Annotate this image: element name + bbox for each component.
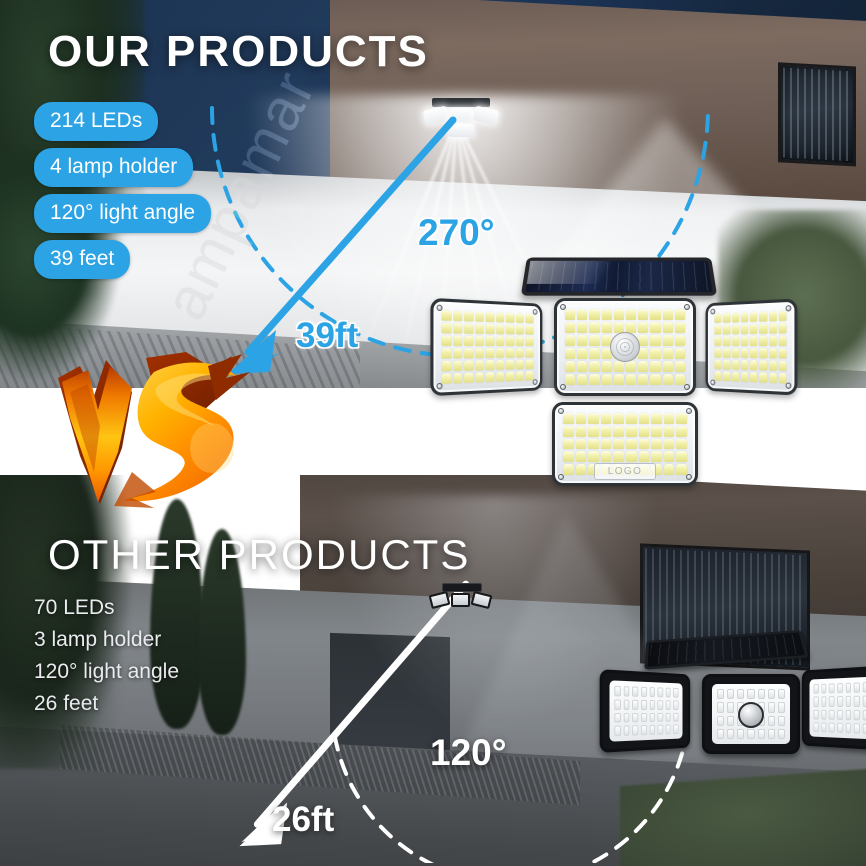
led-dot — [779, 310, 787, 321]
led-dot — [577, 374, 587, 385]
led-dot — [496, 324, 504, 334]
led-dot — [845, 683, 851, 693]
led-dot — [676, 464, 687, 475]
led-dot — [837, 696, 843, 706]
led-dot — [732, 372, 739, 382]
led-dot — [845, 710, 851, 720]
led-dot — [821, 709, 826, 719]
led-dot — [663, 322, 673, 333]
led-dot — [639, 451, 650, 462]
led-dot — [641, 700, 647, 710]
led-dot — [516, 359, 524, 369]
led-dot — [769, 348, 777, 358]
led-dot — [442, 361, 451, 372]
led-dot — [673, 688, 678, 697]
motion-sensor-icon — [610, 332, 640, 362]
led-dot — [769, 323, 777, 333]
led-dot — [486, 312, 495, 322]
led-dot — [663, 348, 673, 359]
led-dot — [663, 361, 673, 372]
led-dot — [741, 372, 748, 382]
led-dot — [750, 348, 757, 358]
page-title-other-products: OTHER PRODUCTS — [48, 531, 470, 579]
led-grid — [810, 676, 866, 740]
led-dot — [768, 716, 775, 726]
led-dot — [632, 725, 638, 735]
led-dot — [601, 439, 612, 450]
wall-mounted-lamp-icon-bottom — [430, 583, 492, 617]
led-dot — [717, 689, 724, 699]
led-dot — [601, 413, 612, 424]
led-dot — [727, 689, 734, 699]
led-dot — [779, 373, 787, 384]
led-dot — [813, 684, 818, 694]
led-dot — [727, 702, 734, 712]
led-dot — [723, 325, 730, 335]
led-dot — [650, 374, 660, 385]
led-dot — [651, 413, 662, 424]
led-dot — [641, 713, 647, 723]
led-dot — [673, 712, 678, 721]
feature-text: 26 feet — [34, 693, 179, 714]
led-dot — [837, 709, 843, 719]
led-dot — [442, 335, 451, 346]
coverage-angle-label-top: 270° — [418, 212, 495, 254]
led-dot — [626, 374, 636, 385]
feature-text: 70 LEDs — [34, 597, 179, 618]
led-dot — [651, 426, 662, 437]
led-dot — [577, 322, 587, 333]
led-dot — [589, 322, 599, 333]
led-dot — [453, 360, 462, 371]
led-dot — [442, 310, 451, 321]
led-dot — [623, 686, 629, 696]
led-dot — [588, 451, 599, 462]
led-dot — [829, 683, 835, 693]
led-dot — [714, 313, 721, 323]
led-dot — [613, 439, 624, 450]
led-dot — [727, 729, 734, 739]
led-dot — [651, 451, 662, 462]
led-dot — [778, 729, 785, 739]
led-dot — [759, 336, 767, 346]
led-dot — [759, 372, 767, 382]
led-dot — [526, 336, 534, 346]
led-dot — [589, 348, 599, 359]
led-dot — [732, 348, 739, 358]
led-dot — [650, 322, 660, 333]
led-dot — [442, 348, 451, 359]
led-dot — [614, 686, 620, 696]
led-dot — [651, 439, 662, 450]
lamp-head-center — [702, 674, 800, 754]
vs-logo — [36, 352, 296, 512]
led-dot — [464, 336, 473, 346]
led-dot — [650, 348, 660, 359]
led-dot — [506, 313, 514, 323]
feature-pill: 214 LEDs — [34, 102, 158, 141]
led-dot — [778, 689, 785, 699]
led-dot — [673, 725, 678, 734]
led-dot — [768, 702, 775, 712]
led-dot — [732, 324, 739, 334]
led-dot — [526, 371, 534, 381]
led-dot — [714, 336, 721, 346]
feature-text: 120° light angle — [34, 661, 179, 682]
led-dot — [750, 312, 757, 322]
led-dot — [486, 360, 495, 370]
led-dot — [768, 729, 775, 739]
led-dot — [675, 322, 685, 333]
led-dot — [496, 360, 504, 370]
led-dot — [829, 696, 835, 706]
led-dot — [588, 426, 599, 437]
led-dot — [779, 323, 787, 334]
led-dot — [496, 336, 504, 346]
led-dot — [813, 709, 818, 719]
led-dot — [714, 371, 721, 381]
led-dot — [650, 335, 660, 346]
led-dot — [758, 729, 765, 739]
led-dot — [717, 729, 724, 739]
led-dot — [862, 723, 866, 734]
led-dot — [741, 324, 748, 334]
led-dot — [496, 348, 504, 358]
page-title-our-products: OUR PRODUCTS — [48, 27, 429, 77]
led-dot — [664, 413, 675, 424]
led-dot — [442, 373, 451, 384]
led-dot — [675, 309, 685, 320]
led-dot — [516, 325, 524, 335]
led-dot — [675, 361, 685, 372]
led-dot — [486, 348, 495, 358]
led-dot — [723, 360, 730, 370]
led-dot — [854, 723, 860, 734]
led-dot — [769, 360, 777, 370]
led-dot — [602, 361, 612, 372]
led-dot — [821, 722, 826, 732]
led-dot — [638, 309, 648, 320]
led-dot — [453, 348, 462, 358]
led-dot — [778, 716, 785, 726]
led-dot — [475, 324, 484, 334]
led-dot — [779, 348, 787, 358]
led-dot — [626, 439, 637, 450]
led-dot — [650, 309, 660, 320]
led-dot — [576, 439, 587, 450]
led-dot — [614, 726, 620, 736]
led-dot — [741, 360, 748, 370]
led-dot — [577, 309, 587, 320]
led-dot — [565, 309, 575, 320]
led-dot — [639, 413, 650, 424]
led-dot — [602, 374, 612, 385]
beam-distance-label-bottom: 26ft — [272, 800, 334, 840]
led-dot — [768, 689, 775, 699]
led-dot — [464, 372, 473, 383]
feature-list-other-products: 70 LEDs 3 lamp holder 120° light angle 2… — [34, 597, 179, 714]
led-dot — [854, 682, 860, 693]
led-dot — [741, 336, 748, 346]
led-dot — [464, 360, 473, 370]
led-dot — [657, 712, 663, 722]
led-dot — [563, 426, 574, 437]
led-dot — [862, 696, 866, 707]
led-dot — [453, 373, 462, 384]
led-dot — [741, 348, 748, 358]
led-dot — [626, 426, 637, 437]
led-dot — [641, 687, 647, 697]
led-dot — [453, 336, 462, 346]
led-dot — [614, 309, 624, 320]
led-grid — [442, 310, 534, 384]
led-dot — [475, 311, 484, 321]
lamp-head-right — [802, 665, 866, 751]
led-dot — [563, 451, 574, 462]
led-dot — [496, 312, 504, 322]
led-dot — [737, 729, 744, 739]
led-dot — [650, 361, 660, 372]
led-dot — [750, 372, 757, 382]
lamp-head-left — [430, 298, 542, 396]
led-dot — [750, 336, 757, 346]
led-dot — [747, 729, 754, 739]
led-dot — [723, 336, 730, 346]
led-dot — [759, 360, 767, 370]
led-dot — [475, 372, 484, 382]
led-dot — [464, 311, 473, 322]
led-dot — [626, 309, 636, 320]
lamp-head-right — [705, 298, 797, 395]
coverage-angle-label-bottom: 120° — [430, 732, 507, 774]
led-dot — [576, 426, 587, 437]
led-dot — [732, 360, 739, 370]
feature-pill: 39 feet — [34, 240, 130, 279]
led-dot — [862, 710, 866, 721]
led-dot — [614, 361, 624, 372]
led-dot — [516, 336, 524, 346]
lamp-head-bottom: LOGO — [552, 402, 698, 486]
led-dot — [639, 439, 650, 450]
led-dot — [589, 335, 599, 346]
led-dot — [676, 426, 687, 437]
led-dot — [649, 700, 655, 710]
led-dot — [638, 322, 648, 333]
led-dot — [665, 725, 670, 735]
led-dot — [641, 725, 647, 735]
led-dot — [664, 464, 675, 475]
led-dot — [845, 723, 851, 733]
led-dot — [854, 710, 860, 721]
led-grid — [609, 680, 682, 741]
led-dot — [613, 451, 624, 462]
led-dot — [638, 374, 648, 385]
feature-pill: 120° light angle — [34, 194, 211, 233]
led-dot — [675, 335, 685, 346]
led-dot — [589, 374, 599, 385]
led-dot — [675, 374, 685, 385]
led-dot — [723, 313, 730, 323]
led-dot — [759, 348, 767, 358]
led-dot — [741, 312, 748, 322]
led-dot — [862, 682, 866, 693]
led-dot — [649, 687, 655, 697]
led-dot — [614, 374, 624, 385]
led-dot — [613, 426, 624, 437]
led-dot — [588, 439, 599, 450]
led-dot — [526, 348, 534, 358]
led-dot — [565, 374, 575, 385]
wall-mounted-lamp-icon — [424, 98, 500, 138]
led-dot — [506, 360, 514, 370]
led-dot — [664, 439, 675, 450]
led-dot — [453, 323, 462, 334]
led-dot — [759, 324, 767, 334]
led-dot — [750, 360, 757, 370]
solar-panel-icon — [644, 630, 809, 670]
led-dot — [663, 309, 673, 320]
led-dot — [626, 413, 637, 424]
product-image-other-3head-lamp — [596, 632, 864, 808]
led-dot — [563, 439, 574, 450]
led-dot — [727, 716, 734, 726]
led-dot — [723, 371, 730, 381]
led-dot — [778, 702, 785, 712]
led-dot — [464, 348, 473, 358]
led-dot — [453, 310, 462, 321]
led-dot — [601, 426, 612, 437]
lamp-head-left — [600, 669, 690, 753]
logo-plate: LOGO — [594, 463, 656, 480]
led-dot — [829, 722, 835, 732]
led-dot — [632, 699, 638, 709]
led-dot — [769, 336, 777, 346]
led-dot — [829, 709, 835, 719]
led-dot — [577, 348, 587, 359]
led-dot — [577, 361, 587, 372]
led-dot — [506, 348, 514, 358]
led-dot — [602, 322, 612, 333]
led-dot — [526, 325, 534, 335]
led-dot — [663, 374, 673, 385]
led-dot — [714, 359, 721, 369]
led-dot — [626, 361, 636, 372]
beam-distance-label-top: 39ft — [296, 316, 358, 356]
solar-panel-icon — [521, 258, 717, 296]
led-dot — [676, 413, 687, 424]
led-dot — [632, 713, 638, 723]
led-dot — [602, 309, 612, 320]
led-dot — [664, 451, 675, 462]
led-dot — [732, 336, 739, 346]
led-dot — [613, 413, 624, 424]
led-dot — [664, 426, 675, 437]
led-dot — [758, 689, 765, 699]
led-dot — [589, 309, 599, 320]
led-dot — [779, 360, 787, 371]
feature-text: 3 lamp holder — [34, 629, 179, 650]
led-dot — [737, 689, 744, 699]
led-dot — [676, 451, 687, 462]
led-dot — [759, 311, 767, 321]
led-dot — [837, 723, 843, 733]
led-dot — [576, 451, 587, 462]
led-dot — [614, 699, 620, 709]
feature-list-our-products: 214 LEDs 4 lamp holder 120° light angle … — [34, 102, 211, 279]
led-dot — [632, 686, 638, 696]
led-dot — [623, 713, 629, 723]
led-dot — [516, 371, 524, 381]
led-dot — [769, 311, 777, 322]
lamp-head-center — [554, 298, 696, 396]
led-dot — [475, 348, 484, 358]
led-dot — [714, 348, 721, 358]
led-dot — [623, 699, 629, 709]
led-dot — [750, 324, 757, 334]
led-dot — [506, 336, 514, 346]
led-dot — [665, 700, 670, 710]
led-dot — [714, 325, 721, 335]
led-dot — [626, 451, 637, 462]
led-dot — [732, 312, 739, 322]
led-dot — [639, 426, 650, 437]
led-dot — [588, 413, 599, 424]
led-dot — [657, 687, 663, 697]
led-dot — [526, 359, 534, 369]
led-dot — [663, 335, 673, 346]
led-dot — [565, 361, 575, 372]
led-dot — [638, 361, 648, 372]
led-dot — [516, 313, 524, 323]
led-grid — [714, 310, 786, 383]
led-dot — [576, 464, 587, 475]
led-dot — [486, 372, 495, 382]
product-image-our-4head-lamp: LOGO — [428, 254, 800, 486]
led-dot — [577, 335, 587, 346]
led-dot — [565, 348, 575, 359]
led-dot — [563, 413, 574, 424]
led-dot — [565, 322, 575, 333]
product-comparison-infographic: 270° 39ft OUR PRODUCTS 214 LEDs 4 lamp h… — [0, 0, 866, 866]
led-dot — [442, 323, 451, 334]
led-dot — [475, 360, 484, 370]
led-dot — [837, 683, 843, 693]
led-dot — [563, 464, 574, 475]
led-dot — [516, 348, 524, 358]
led-dot — [676, 439, 687, 450]
led-dot — [464, 323, 473, 333]
led-dot — [657, 700, 663, 710]
feature-pill: 4 lamp holder — [34, 148, 193, 187]
led-dot — [475, 336, 484, 346]
led-dot — [576, 413, 587, 424]
led-dot — [657, 725, 663, 735]
led-dot — [821, 697, 826, 707]
led-dot — [813, 722, 818, 732]
led-dot — [623, 726, 629, 736]
led-dot — [506, 371, 514, 381]
led-dot — [845, 696, 851, 706]
motion-sensor-icon — [738, 702, 764, 728]
led-dot — [649, 725, 655, 735]
led-dot — [665, 688, 670, 698]
led-dot — [821, 684, 826, 694]
led-dot — [675, 348, 685, 359]
led-dot — [589, 361, 599, 372]
led-dot — [717, 716, 724, 726]
led-dot — [717, 702, 724, 712]
led-dot — [526, 313, 534, 323]
